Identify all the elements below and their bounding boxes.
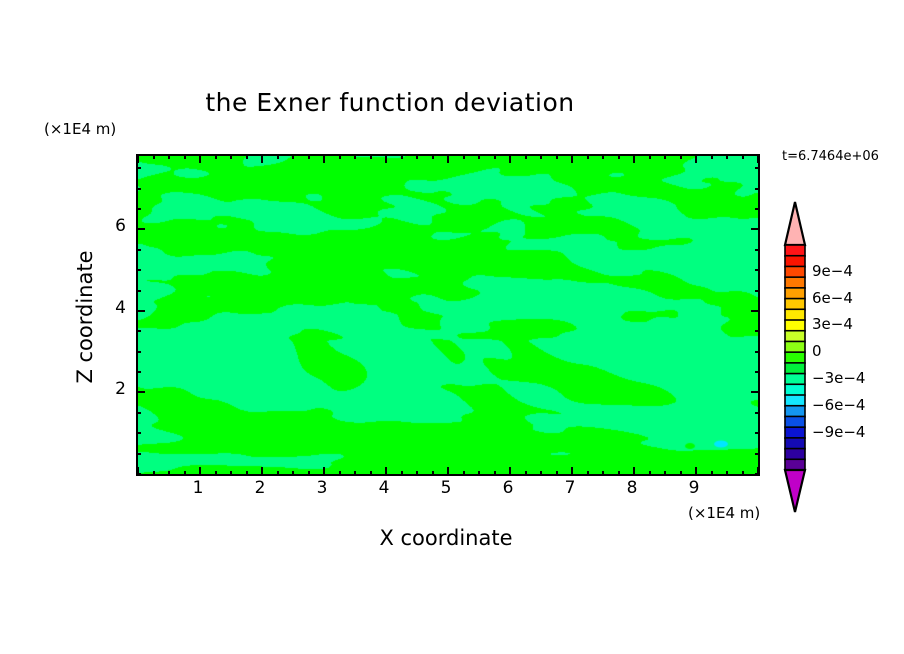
- tick-mark: [447, 467, 449, 476]
- tick-mark: [230, 471, 232, 476]
- tick-mark: [755, 412, 760, 414]
- tick-mark: [571, 467, 573, 476]
- tick-mark: [509, 467, 511, 476]
- tick-mark: [664, 471, 666, 476]
- plot-area: [136, 154, 760, 476]
- tick-mark: [261, 467, 263, 476]
- tick-mark: [751, 228, 760, 230]
- tick-mark: [153, 154, 155, 159]
- tick-mark: [261, 154, 263, 163]
- tick-mark: [755, 167, 760, 169]
- colorbar: [778, 198, 812, 516]
- tick-mark: [755, 473, 760, 475]
- tick-mark: [742, 154, 744, 159]
- tick-mark: [199, 154, 201, 163]
- tick-mark: [711, 471, 713, 476]
- tick-mark: [680, 471, 682, 476]
- tick-mark: [136, 310, 145, 312]
- tick-mark: [587, 471, 589, 476]
- tick-mark: [308, 154, 310, 159]
- x-axis-unit-label: (×1E4 m): [688, 504, 760, 522]
- tick-mark: [385, 467, 387, 476]
- tick-mark: [354, 471, 356, 476]
- tick-mark: [755, 290, 760, 292]
- colorbar-tick-label: 3e−4: [812, 315, 853, 333]
- tick-mark: [277, 471, 279, 476]
- x-tick-label: 2: [240, 478, 280, 498]
- tick-mark: [292, 154, 294, 159]
- tick-mark: [751, 391, 760, 393]
- tick-mark: [755, 249, 760, 251]
- colorbar-tick-label: −9e−4: [812, 423, 865, 441]
- tick-mark: [136, 290, 141, 292]
- tick-mark: [618, 154, 620, 159]
- tick-mark: [136, 412, 141, 414]
- colorbar-tick-label: 9e−4: [812, 262, 853, 280]
- tick-mark: [525, 154, 527, 159]
- tick-mark: [463, 154, 465, 159]
- tick-mark: [277, 154, 279, 159]
- tick-mark: [323, 154, 325, 163]
- tick-mark: [494, 471, 496, 476]
- tick-mark: [136, 208, 141, 210]
- tick-mark: [246, 471, 248, 476]
- tick-mark: [354, 154, 356, 159]
- tick-mark: [136, 167, 141, 169]
- tick-mark: [401, 154, 403, 159]
- tick-mark: [432, 471, 434, 476]
- contour-field: [138, 156, 758, 474]
- tick-mark: [755, 453, 760, 455]
- y-tick-label: 6: [86, 216, 126, 236]
- tick-mark: [323, 467, 325, 476]
- tick-mark: [136, 391, 145, 393]
- colorbar-tick-label: −6e−4: [812, 396, 865, 414]
- tick-mark: [726, 471, 728, 476]
- tick-mark: [136, 249, 141, 251]
- tick-mark: [602, 154, 604, 159]
- tick-mark: [540, 154, 542, 159]
- x-tick-label: 8: [612, 478, 652, 498]
- tick-mark: [136, 188, 141, 190]
- tick-mark: [711, 154, 713, 159]
- tick-mark: [757, 467, 759, 476]
- tick-mark: [370, 154, 372, 159]
- tick-mark: [292, 471, 294, 476]
- tick-mark: [215, 154, 217, 159]
- tick-mark: [540, 471, 542, 476]
- tick-mark: [137, 467, 139, 476]
- x-tick-label: 1: [178, 478, 218, 498]
- tick-mark: [649, 471, 651, 476]
- tick-mark: [755, 432, 760, 434]
- tick-mark: [199, 467, 201, 476]
- tick-mark: [136, 371, 141, 373]
- tick-mark: [137, 154, 139, 163]
- tick-mark: [215, 471, 217, 476]
- tick-mark: [755, 208, 760, 210]
- tick-mark: [755, 269, 760, 271]
- y-tick-label: 2: [86, 379, 126, 399]
- tick-mark: [478, 471, 480, 476]
- y-axis-unit-label: (×1E4 m): [44, 120, 116, 138]
- tick-mark: [136, 351, 141, 353]
- tick-mark: [230, 154, 232, 159]
- time-annotation: t=6.7464e+06: [782, 149, 879, 164]
- tick-mark: [695, 154, 697, 163]
- tick-mark: [556, 154, 558, 159]
- tick-mark: [136, 269, 141, 271]
- tick-mark: [153, 471, 155, 476]
- tick-mark: [751, 310, 760, 312]
- x-tick-label: 6: [488, 478, 528, 498]
- tick-mark: [478, 154, 480, 159]
- tick-mark: [755, 330, 760, 332]
- tick-mark: [633, 467, 635, 476]
- tick-mark: [246, 154, 248, 159]
- y-tick-label: 4: [86, 298, 126, 318]
- tick-mark: [525, 471, 527, 476]
- tick-mark: [587, 154, 589, 159]
- x-tick-label: 7: [550, 478, 590, 498]
- tick-mark: [136, 453, 141, 455]
- x-tick-label: 5: [426, 478, 466, 498]
- tick-mark: [370, 471, 372, 476]
- tick-mark: [136, 432, 141, 434]
- tick-mark: [416, 154, 418, 159]
- tick-mark: [494, 154, 496, 159]
- tick-mark: [339, 154, 341, 159]
- x-tick-label: 9: [674, 478, 714, 498]
- x-axis-title: X coordinate: [256, 526, 636, 550]
- colorbar-tick-label: 0: [812, 342, 822, 360]
- tick-mark: [726, 154, 728, 159]
- tick-mark: [168, 154, 170, 159]
- tick-mark: [633, 154, 635, 163]
- colorbar-tick-label: −3e−4: [812, 369, 865, 387]
- tick-mark: [602, 471, 604, 476]
- tick-mark: [742, 471, 744, 476]
- tick-mark: [509, 154, 511, 163]
- colorbar-gradient: [778, 198, 812, 516]
- tick-mark: [432, 154, 434, 159]
- tick-mark: [618, 471, 620, 476]
- tick-mark: [755, 188, 760, 190]
- tick-mark: [339, 471, 341, 476]
- tick-mark: [136, 330, 141, 332]
- tick-mark: [184, 154, 186, 159]
- tick-mark: [184, 471, 186, 476]
- tick-mark: [757, 154, 759, 163]
- colorbar-tick-label: 6e−4: [812, 289, 853, 307]
- tick-mark: [755, 351, 760, 353]
- tick-mark: [695, 467, 697, 476]
- tick-mark: [136, 473, 141, 475]
- x-tick-label: 4: [364, 478, 404, 498]
- tick-mark: [463, 471, 465, 476]
- tick-mark: [416, 471, 418, 476]
- page-title: the Exner function deviation: [0, 88, 780, 117]
- tick-mark: [168, 471, 170, 476]
- x-tick-label: 3: [302, 478, 342, 498]
- tick-mark: [680, 154, 682, 159]
- tick-mark: [755, 371, 760, 373]
- tick-mark: [571, 154, 573, 163]
- tick-mark: [556, 471, 558, 476]
- tick-mark: [136, 228, 145, 230]
- tick-mark: [649, 154, 651, 159]
- tick-mark: [664, 154, 666, 159]
- tick-mark: [385, 154, 387, 163]
- tick-mark: [447, 154, 449, 163]
- tick-mark: [308, 471, 310, 476]
- tick-mark: [401, 471, 403, 476]
